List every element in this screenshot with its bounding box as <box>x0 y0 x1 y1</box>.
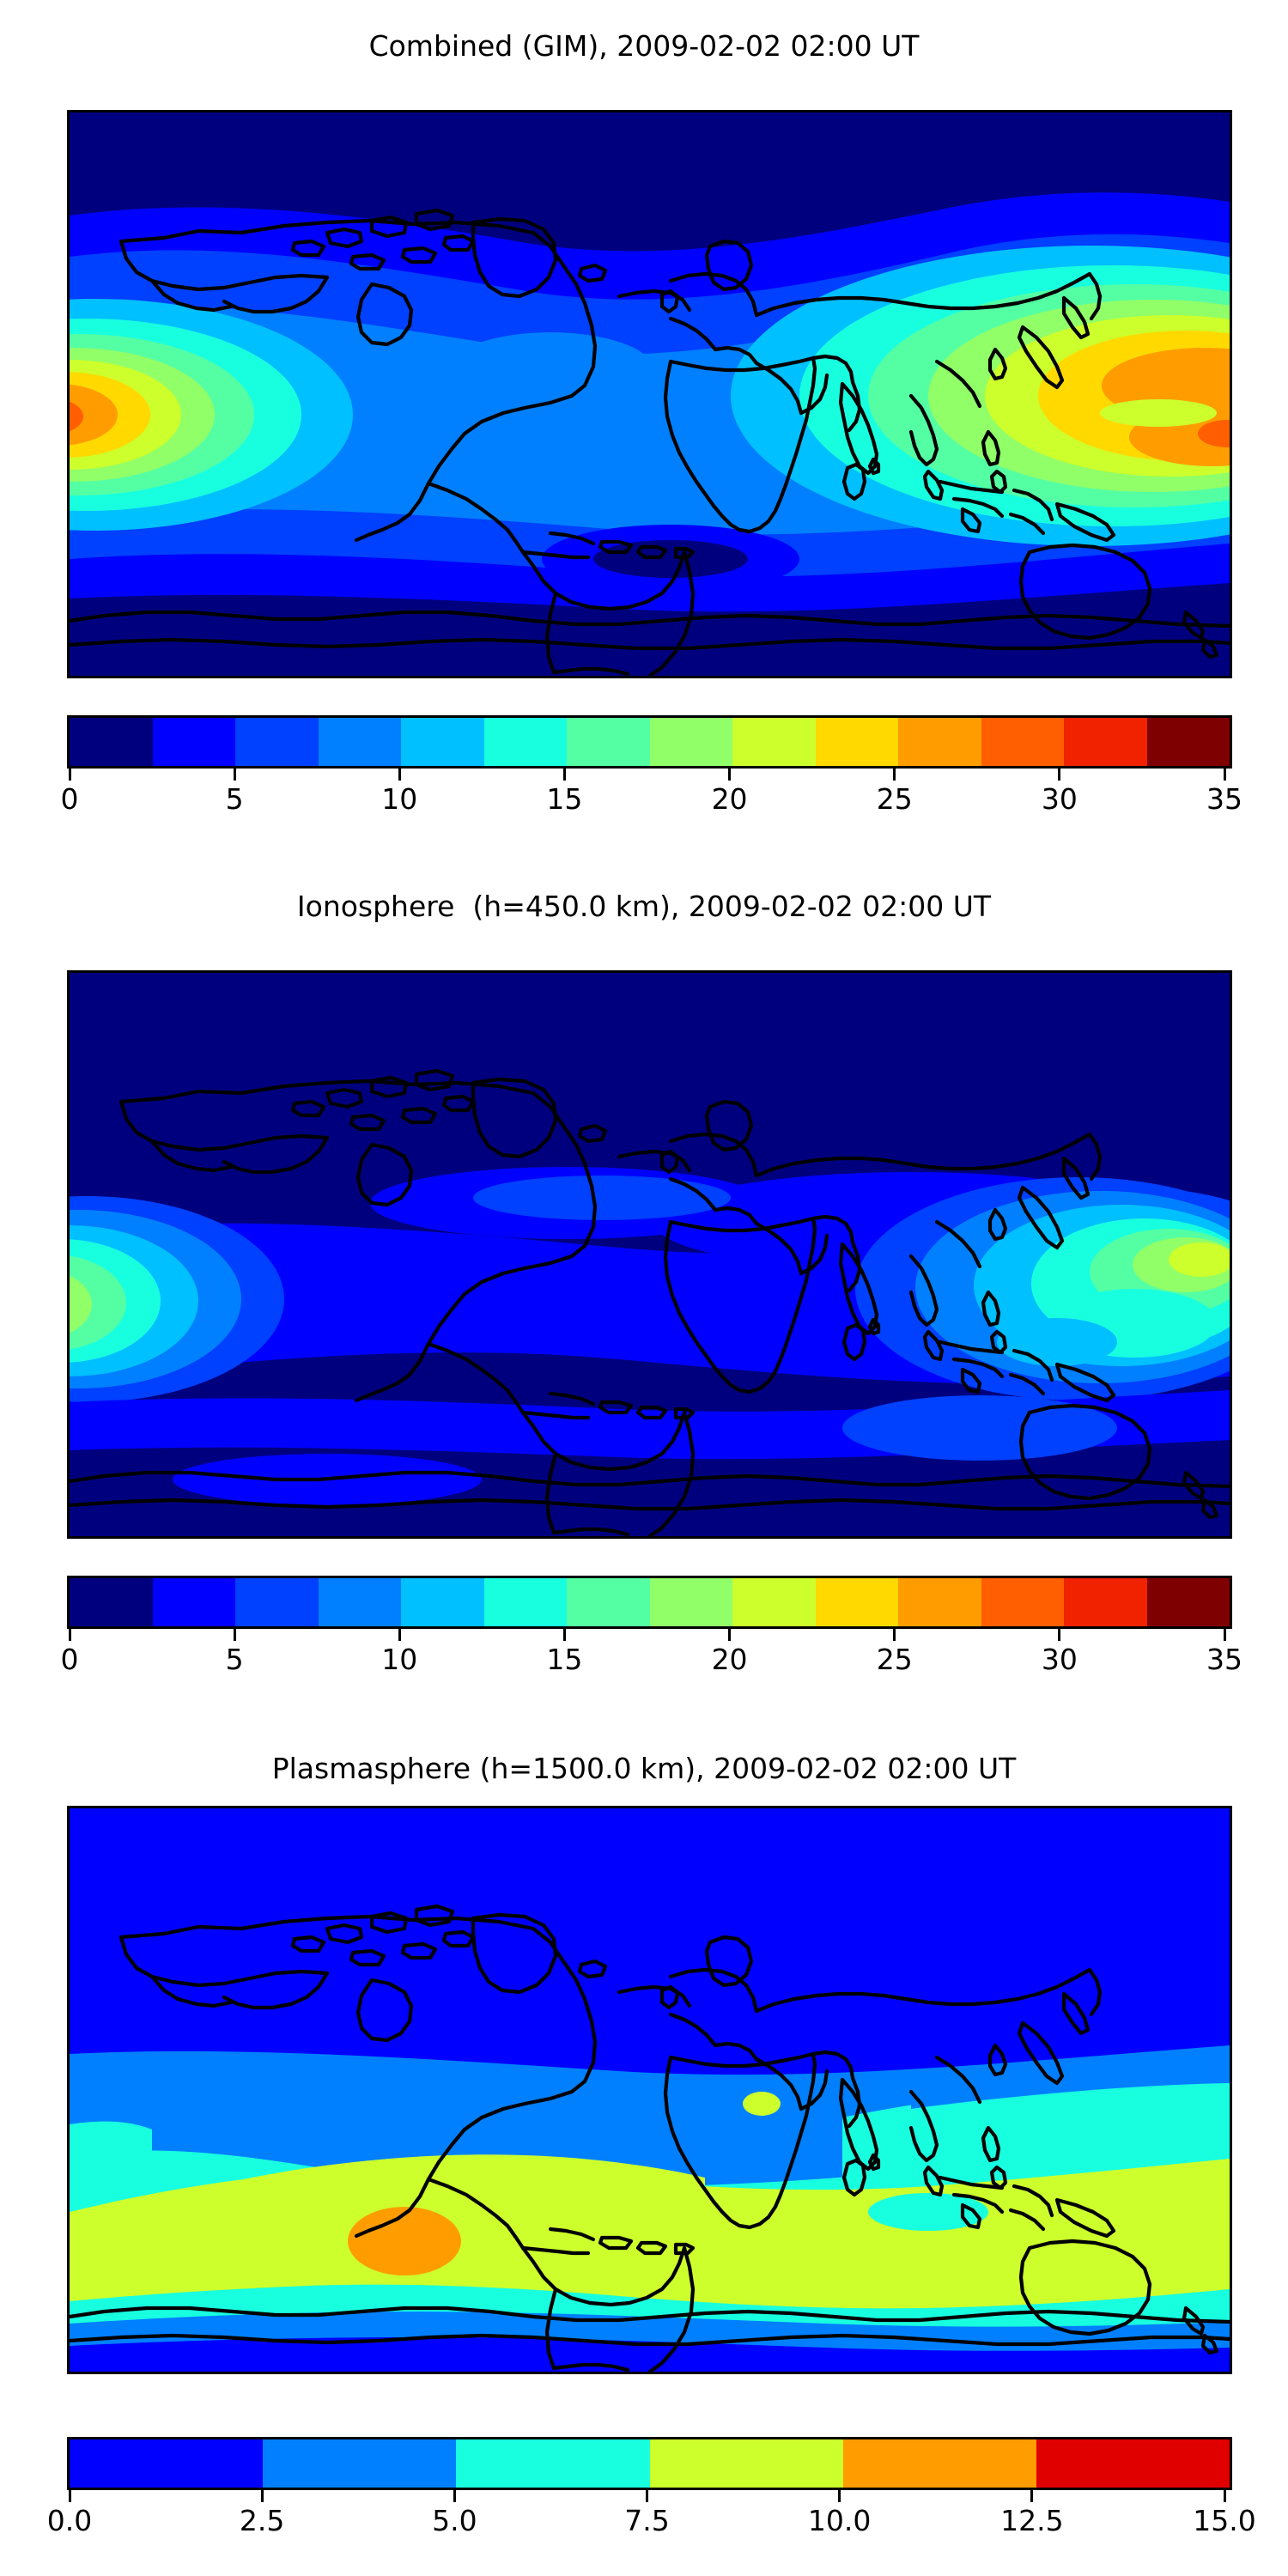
colorbar-tick <box>398 769 401 781</box>
colorbar-tick <box>893 1629 896 1641</box>
panel-plasmasphere: Plasmasphere (h=1500.0 km), 2009-02-02 0… <box>0 1717 1288 2576</box>
feature-south-america-max <box>348 2207 461 2275</box>
colorbar-tick <box>563 769 566 781</box>
contour-patch-southern-min-core <box>593 540 748 578</box>
colorbar-tick-label: 10 <box>381 782 417 816</box>
colorbar-plasmasphere[interactable] <box>67 2437 1232 2490</box>
colorbar-tick-label: 25 <box>877 782 913 816</box>
colorbar-tick <box>69 769 71 781</box>
colorbar-tick-label: 15 <box>546 1643 582 1676</box>
colorbar-tick <box>1058 1629 1060 1641</box>
contour-map-combined <box>70 112 1230 676</box>
panel-ionosphere: Ionosphere (h=450.0 km), 2009-02-02 02:0… <box>0 859 1288 1717</box>
colorbar-tick-label: 0 <box>61 1643 79 1676</box>
colorbar-band-13 <box>1147 1578 1230 1626</box>
colorbar-band-9 <box>816 718 899 766</box>
colorbar-band-0 <box>70 2439 263 2488</box>
map-ionosphere <box>67 970 1232 1539</box>
colorbar-tick <box>646 2490 648 2502</box>
colorbar-band-3 <box>319 718 402 766</box>
colorbar-tick <box>234 1629 236 1641</box>
colorbar-tick-label: 25 <box>877 1643 913 1676</box>
colorbar-tick-label: 5 <box>226 1643 244 1676</box>
colorbar-tick-label: 20 <box>712 782 748 816</box>
colorbar-wrap-combined: 05101520253035 <box>67 715 1232 818</box>
colorbar-axis-ionosphere: 05101520253035 <box>67 1629 1232 1679</box>
colorbar-axis-plasmasphere: 0.02.55.07.510.012.515.0 <box>67 2490 1232 2540</box>
panel-title-ionosphere: Ionosphere (h=450.0 km), 2009-02-02 02:0… <box>0 890 1288 923</box>
colorbar-band-11 <box>981 1578 1065 1626</box>
colorbar-band-3 <box>650 2439 843 2488</box>
colorbar-tick-label: 12.5 <box>1000 2504 1063 2537</box>
panel-title-plasmasphere: Plasmasphere (h=1500.0 km), 2009-02-02 0… <box>0 1752 1288 1785</box>
colorbar-wrap-plasmasphere: 0.02.55.07.510.012.515.0 <box>67 2437 1232 2540</box>
colorbar-tick-label: 35 <box>1206 1643 1242 1676</box>
panel-title-combined: Combined (GIM), 2009-02-02 02:00 UT <box>0 29 1288 63</box>
colorbar-tick <box>728 769 731 781</box>
colorbar-tick <box>69 2490 71 2502</box>
colorbar-tick <box>1224 1629 1226 1641</box>
colorbar-band-0 <box>70 1578 153 1626</box>
colorbar-band-5 <box>484 1578 568 1626</box>
colorbar-tick <box>234 769 236 781</box>
feature-middle-east-spot <box>743 2092 781 2116</box>
colorbar-tick <box>261 2490 264 2502</box>
colorbar-ionosphere[interactable] <box>67 1576 1232 1629</box>
colorbar-tick-label: 10.0 <box>808 2504 871 2537</box>
colorbar-tick-label: 5.0 <box>432 2504 477 2537</box>
figure-canvas: Combined (GIM), 2009-02-02 02:00 UT <box>0 0 1288 2576</box>
colorbar-band-4 <box>401 718 484 766</box>
panel-combined-gim: Combined (GIM), 2009-02-02 02:00 UT <box>0 0 1288 859</box>
colorbar-tick-label: 10 <box>381 1643 417 1676</box>
colorbar-band-10 <box>898 1578 981 1626</box>
colorbar-band-8 <box>732 1578 816 1626</box>
colorbar-tick-label: 15 <box>546 782 582 816</box>
colorbar-band-5 <box>1036 2439 1230 2488</box>
colorbar-band-12 <box>1064 718 1147 766</box>
contour-band-cyan-left <box>70 2122 152 2178</box>
colorbar-band-8 <box>732 718 816 766</box>
colorbar-tick <box>1058 769 1060 781</box>
colorbar-tick <box>838 2490 841 2502</box>
colorbar-band-2 <box>235 1578 319 1626</box>
colorbar-axis-combined: 05101520253035 <box>67 769 1232 818</box>
contour-map-plasmasphere <box>70 1808 1230 2372</box>
colorbar-tick-label: 20 <box>712 1643 748 1676</box>
colorbar-band-2 <box>456 2439 649 2488</box>
colorbar-wrap-ionosphere: 05101520253035 <box>67 1576 1232 1679</box>
colorbar-tick <box>1224 769 1226 781</box>
feature-atlantic-belt-2 <box>473 1176 731 1220</box>
colorbar-combined[interactable] <box>67 715 1232 769</box>
colorbar-band-9 <box>816 1578 899 1626</box>
colorbar-band-10 <box>898 718 981 766</box>
colorbar-tick-label: 15.0 <box>1193 2504 1255 2537</box>
colorbar-tick <box>893 769 896 781</box>
colorbar-tick-label: 0 <box>61 782 79 816</box>
colorbar-band-1 <box>153 1578 236 1626</box>
colorbar-tick-label: 30 <box>1042 1643 1078 1676</box>
colorbar-band-4 <box>401 1578 484 1626</box>
colorbar-tick <box>69 1629 71 1641</box>
colorbar-band-4 <box>843 2439 1036 2488</box>
colorbar-band-6 <box>567 718 650 766</box>
colorbar-band-0 <box>70 718 153 766</box>
colorbar-band-3 <box>319 1578 402 1626</box>
colorbar-tick <box>563 1629 566 1641</box>
colorbar-tick-label: 2.5 <box>240 2504 284 2537</box>
colorbar-tick <box>1224 2490 1226 2502</box>
colorbar-tick-label: 0.0 <box>47 2504 92 2537</box>
colorbar-tick <box>728 1629 731 1641</box>
colorbar-band-5 <box>484 718 568 766</box>
colorbar-tick-label: 35 <box>1206 782 1242 816</box>
colorbar-tick <box>1030 2490 1033 2502</box>
colorbar-tick-label: 5 <box>226 782 244 816</box>
colorbar-band-11 <box>981 718 1065 766</box>
colorbar-tick-label: 30 <box>1042 782 1078 816</box>
colorbar-band-7 <box>650 718 733 766</box>
colorbar-tick-label: 7.5 <box>624 2504 669 2537</box>
colorbar-tick <box>398 1629 401 1641</box>
colorbar-band-2 <box>235 718 319 766</box>
colorbar-band-13 <box>1147 718 1230 766</box>
colorbar-band-7 <box>650 1578 733 1626</box>
colorbar-band-1 <box>153 718 236 766</box>
colorbar-band-1 <box>263 2439 456 2488</box>
colorbar-band-12 <box>1064 1578 1147 1626</box>
map-plasmasphere <box>67 1806 1232 2374</box>
colorbar-tick <box>453 2490 456 2502</box>
colorbar-band-6 <box>567 1578 650 1626</box>
feature-atlantic-weak <box>447 332 653 408</box>
map-combined-gim <box>67 110 1232 678</box>
contour-map-ionosphere <box>70 973 1230 1536</box>
